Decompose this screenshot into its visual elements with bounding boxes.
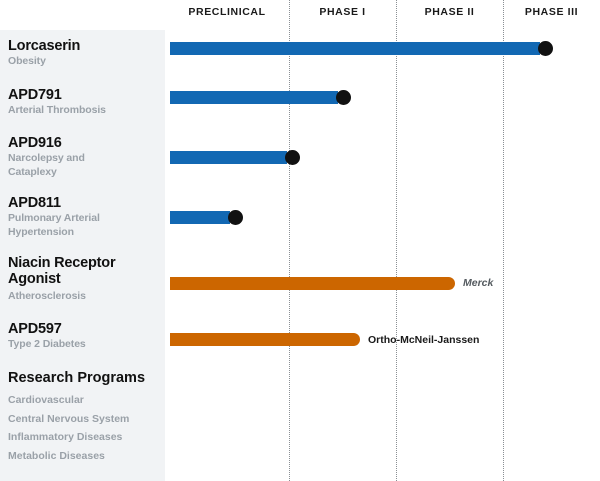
bar-niacin-receptor-agonist[interactable] — [170, 277, 455, 290]
program-indication-line1: Pulmonary Arterial — [8, 211, 163, 225]
bar-apd597[interactable] — [170, 333, 360, 346]
program-name: APD811 — [8, 195, 163, 211]
stage-divider-phase-i-phase-ii — [396, 0, 397, 481]
program-name: Niacin Receptor Agonist — [8, 255, 163, 287]
program-indication-line1: Narcolepsy and — [8, 151, 163, 165]
program-entry-niacin-receptor-agonist[interactable]: Niacin Receptor Agonist Atherosclerosis — [8, 255, 163, 303]
program-indication: Atherosclerosis — [8, 289, 163, 303]
program-indication: Arterial Thrombosis — [8, 103, 163, 117]
program-entry-apd916[interactable]: APD916 Narcolepsy and Cataplexy — [8, 135, 163, 179]
stage-label-phase-i: PHASE I — [289, 6, 396, 18]
research-item-cardiovascular[interactable]: Cardiovascular — [8, 391, 163, 410]
program-entry-apd791[interactable]: APD791 Arterial Thrombosis — [8, 87, 163, 117]
program-indication: Type 2 Diabetes — [8, 337, 163, 351]
partner-label-niacin-receptor-agonist: Merck — [463, 277, 493, 290]
bar-apd811[interactable] — [170, 211, 230, 224]
bar-apd916[interactable] — [170, 151, 287, 164]
stage-marker-apd916 — [285, 150, 300, 165]
research-programs-section: Research Programs Cardiovascular Central… — [8, 370, 163, 465]
research-item-metabolic-diseases[interactable]: Metabolic Diseases — [8, 447, 163, 466]
stage-label-preclinical: PRECLINICAL — [165, 6, 289, 18]
program-name: APD597 — [8, 321, 163, 337]
program-entry-apd811[interactable]: APD811 Pulmonary Arterial Hypertension — [8, 195, 163, 239]
stage-label-phase-iii: PHASE III — [503, 6, 600, 18]
stage-marker-apd791 — [336, 90, 351, 105]
program-entry-lorcaserin[interactable]: Lorcaserin Obesity — [8, 38, 163, 68]
bar-lorcaserin[interactable] — [170, 42, 540, 55]
bar-apd791[interactable] — [170, 91, 338, 104]
program-indication-line2: Hypertension — [8, 225, 163, 239]
research-programs-title: Research Programs — [8, 370, 163, 387]
stage-marker-apd811 — [228, 210, 243, 225]
pipeline-chart: Lorcaserin Obesity APD791 Arterial Throm… — [0, 0, 600, 481]
program-entry-apd597[interactable]: APD597 Type 2 Diabetes — [8, 321, 163, 351]
stage-divider-phase-ii-phase-iii — [503, 0, 504, 481]
research-item-inflammatory-diseases[interactable]: Inflammatory Diseases — [8, 428, 163, 447]
program-name: Lorcaserin — [8, 38, 163, 54]
program-name: APD791 — [8, 87, 163, 103]
program-indication-line2: Cataplexy — [8, 165, 163, 179]
stage-marker-lorcaserin — [538, 41, 553, 56]
program-indication: Obesity — [8, 54, 163, 68]
stage-divider-preclinical-phase-i — [289, 0, 290, 481]
stage-label-phase-ii: PHASE II — [396, 6, 503, 18]
chart-area: PRECLINICAL PHASE I PHASE II PHASE III M… — [165, 0, 600, 481]
program-sidebar: Lorcaserin Obesity APD791 Arterial Throm… — [0, 30, 165, 481]
partner-label-apd597: Ortho-McNeil-Janssen — [368, 334, 479, 347]
research-item-central-nervous-system[interactable]: Central Nervous System — [8, 410, 163, 429]
program-name: APD916 — [8, 135, 163, 151]
